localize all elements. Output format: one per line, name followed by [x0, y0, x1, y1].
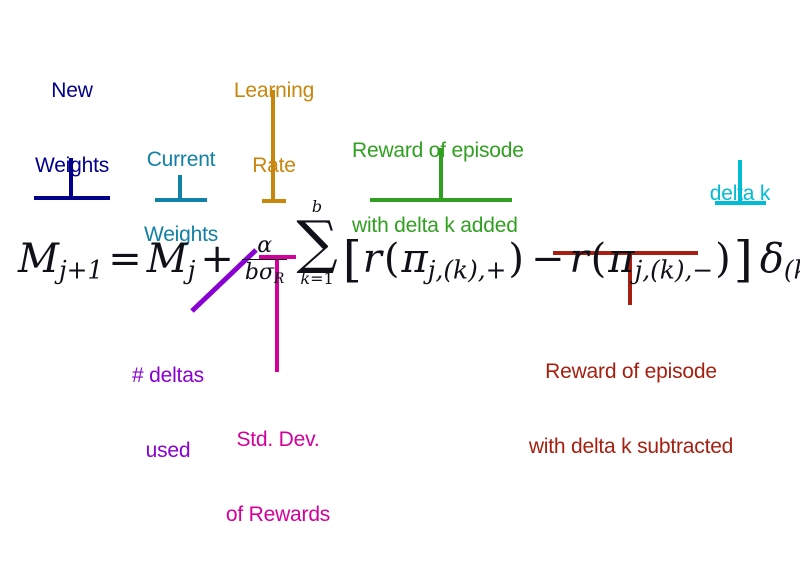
- eq-sum-lower-limit: k=1: [296, 270, 337, 288]
- eq-delta-subscript: (k): [784, 256, 800, 285]
- eq-reward-fn-plus: r: [363, 236, 382, 282]
- eq-policy-plus: π: [402, 236, 428, 282]
- eq-policy-minus-subscript: j,(k),−: [635, 256, 714, 285]
- eq-policy-minus: π: [608, 236, 634, 282]
- eq-rhs-symbol: M: [147, 236, 188, 282]
- eq-paren-open-plus: (: [382, 236, 402, 282]
- figure-canvas: New Weights Current Weights Learning Rat…: [0, 0, 800, 464]
- label-std-dev-line1: Std. Dev.: [222, 427, 334, 452]
- eq-bracket-open: [: [342, 231, 363, 288]
- label-reward-added-line1: Reward of episode: [352, 138, 572, 163]
- sigma-sum-icon: ∑: [296, 216, 337, 269]
- eq-denominator: bσR: [242, 259, 287, 286]
- equation: Mj+1=Mj+αbσRb∑k=1[r(πj,(k),+)−r(πj,(k),−…: [18, 198, 800, 288]
- eq-alpha: α: [242, 234, 287, 258]
- eq-summation: b∑k=1: [296, 198, 337, 288]
- eq-paren-open-minus: (: [589, 236, 609, 282]
- eq-delta: δ: [760, 236, 784, 282]
- label-num-deltas: # deltas used: [116, 313, 220, 513]
- eq-b: b: [245, 260, 259, 285]
- eq-minus: −: [526, 236, 570, 282]
- label-std-dev: Std. Dev. of Rewards: [222, 377, 334, 577]
- label-reward-subtracted: Reward of episode with delta k subtracte…: [505, 309, 757, 509]
- eq-paren-close-plus: ): [506, 236, 526, 282]
- eq-sigma-subscript: R: [274, 271, 284, 287]
- eq-lhs-symbol: M: [18, 236, 59, 282]
- label-num-deltas-line2: used: [116, 438, 220, 463]
- eq-lhs-subscript: j+1: [59, 256, 103, 285]
- label-num-deltas-line1: # deltas: [116, 363, 220, 388]
- eq-step-fraction: αbσR: [242, 234, 287, 286]
- eq-paren-close-minus: ): [713, 236, 733, 282]
- eq-reward-fn-minus: r: [570, 236, 589, 282]
- eq-plus: +: [195, 236, 239, 282]
- label-learning-rate-line2: Rate: [215, 153, 333, 178]
- eq-sum-lower-eq: =1: [310, 269, 334, 288]
- label-learning-rate-line1: Learning: [215, 78, 333, 103]
- label-new-weights-line1: New: [14, 78, 130, 103]
- eq-bracket-close: ]: [733, 231, 754, 288]
- label-reward-subtracted-line2: with delta k subtracted: [505, 434, 757, 459]
- label-new-weights-line2: Weights: [14, 153, 130, 178]
- eq-equals: =: [103, 236, 147, 282]
- label-std-dev-line2: of Rewards: [222, 502, 334, 527]
- eq-sigma: σ: [259, 260, 274, 285]
- label-reward-subtracted-line1: Reward of episode: [505, 359, 757, 384]
- eq-sum-lower-var: k: [300, 269, 310, 288]
- eq-policy-plus-subscript: j,(k),+: [428, 256, 507, 285]
